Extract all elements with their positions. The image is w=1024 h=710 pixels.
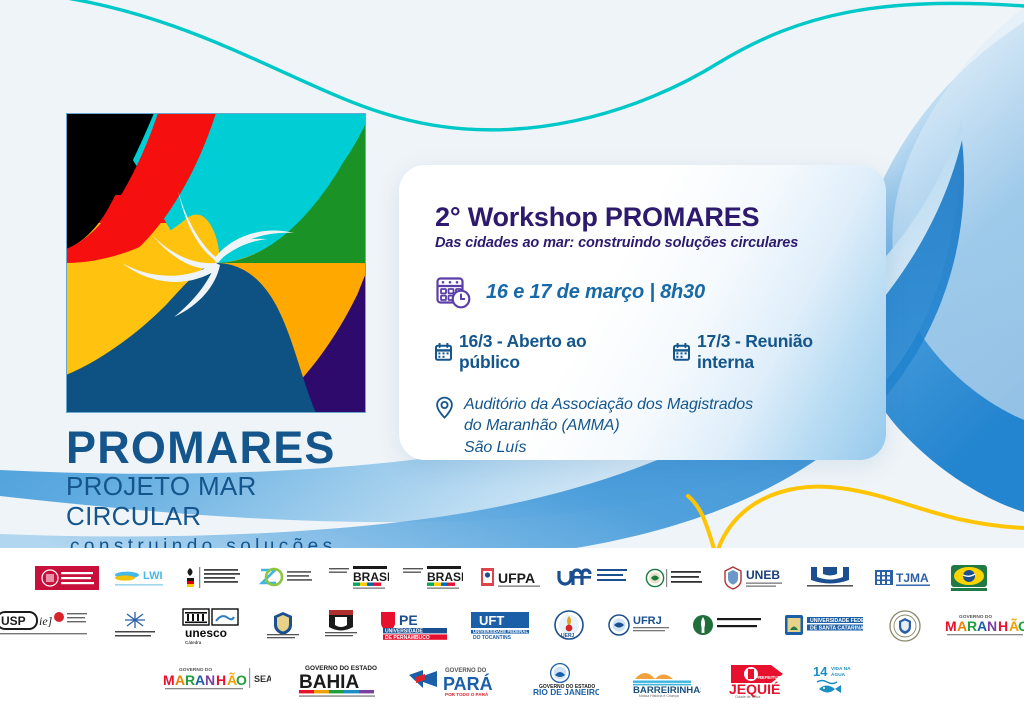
event-venue-row: Auditório da Associação dos Magistrados … [435,394,868,457]
partner-logo-governo-para: GOVERNO DO PARÁ POR TODO O PARÁ [405,656,497,704]
venue-line-3: São Luís [464,439,526,456]
svg-text:UNEB: UNEB [746,568,780,582]
svg-text:BRASIL: BRASIL [353,570,389,584]
partner-logo-upe: PE UNIVERSIDADE DE PERNAMBUCO [379,604,451,648]
partner-logo-governo-brasil-seal [949,558,989,598]
partner-logo-lwi: LWI [113,558,167,598]
partner-logo-ods-14: 14 VIDA NA ÁGUA [811,656,863,704]
partner-logo-ufrj: UFRJ [607,604,673,648]
svg-text:A: A [977,618,987,634]
bg-teal-curve [40,0,1024,130]
svg-text:ie]: ie] [39,614,53,628]
partner-logo-ufsc: UNIVERSIDADE FEDERAL DE SANTA CATARINA [783,604,867,648]
svg-text:TJMA: TJMA [896,571,929,585]
event-venue-text: Auditório da Associação dos Magistrados … [464,394,753,457]
event-datetime-row: 16 e 17 de março | 8h30 [435,273,868,311]
venue-line-2: do Maranhão (AMMA) [464,417,620,434]
svg-text:N: N [987,618,997,634]
partner-logo-ministerio-federal-brasil-1: BRASIL [329,558,389,598]
event-datetime-text: 16 e 17 de março | 8h30 [486,281,705,304]
svg-text:A: A [195,672,205,688]
svg-text:R: R [185,672,195,688]
venue-line-1: Auditório da Associação dos Magistrados [464,396,753,413]
partner-logo-governo-rio-de-janeiro: GOVERNO DO ESTADO RIO DE JANEIRO [521,656,599,704]
partner-logo-tjma: TJMA [873,558,935,598]
partner-logo-ufpa: UFPA [477,558,543,598]
partner-logo-uneb: UNEB [721,558,787,598]
poster-root: PROMARES PROJETO MAR CIRCULAR construind… [0,0,1024,710]
event-subtitle: Das cidades ao mar: construindo soluções… [435,235,868,251]
partner-logo-row-3: GOVERNO DO MA RA NH ÃO SEAP GOVERNO DO E… [0,656,1024,704]
partner-logo-row-2: USP ie] [0,604,1024,648]
partner-logo-uerj: UERJ [549,604,589,648]
svg-text:14: 14 [813,664,828,679]
calendar-icon [435,343,452,361]
svg-text:DE PERNAMBUCO: DE PERNAMBUCO [385,635,430,641]
partner-logo-uel [691,604,765,648]
partner-logo-instituto-oceanografico [107,604,163,648]
svg-text:DE SANTA CATARINA: DE SANTA CATARINA [810,626,864,632]
logo-title: PROMARES [66,425,376,470]
svg-text:BRASIL: BRASIL [427,570,463,584]
svg-text:O: O [1018,618,1024,634]
svg-text:BAHIA: BAHIA [299,672,359,693]
svg-text:M: M [163,672,175,688]
svg-text:Cidade de Todos: Cidade de Todos [735,695,761,699]
event-title: 2° Workshop PROMARES [435,203,868,231]
partner-logo-row-1: LWI [0,558,1024,598]
svg-text:PE: PE [399,612,418,628]
partner-logo-uff [557,558,631,598]
partner-logo-zug [257,558,315,598]
svg-text:unesco: unesco [185,626,227,640]
svg-text:R: R [967,618,977,634]
svg-text:A: A [175,672,185,688]
partner-logo-seal-generic [885,604,925,648]
svg-text:RIO DE JANEIRO: RIO DE JANEIRO [533,687,599,697]
session-label-0: 16/3 - Aberto ao público [459,331,645,373]
session-label-1: 17/3 - Reunião interna [697,331,868,373]
svg-text:LWI: LWI [143,570,163,582]
partner-logo-governo-maranhao: GOVERNO DO MA RA NH ÃO [943,604,1024,648]
svg-text:H: H [998,618,1008,634]
location-pin-icon [435,396,454,420]
svg-text:UFPA: UFPA [498,570,535,586]
svg-text:PARÁ: PARÁ [443,673,493,694]
svg-text:M: M [945,618,957,634]
session-item-1: 17/3 - Reunião interna [673,331,868,373]
svg-text:VIDA NA: VIDA NA [831,666,851,672]
partner-logo-uema [645,558,707,598]
session-item-0: 16/3 - Aberto ao público [435,331,645,373]
bg-yellow-curve [716,487,1024,556]
partner-logo-barreirinhas: BARREIRINHAS Nossa História é Criança [623,656,701,704]
logo-subtitle: PROJETO MAR CIRCULAR [66,472,376,532]
svg-text:ÁGUA: ÁGUA [831,671,846,678]
partner-logo-prefeitura-jequie: PREFEITURA JEQUIÉ Cidade de Todos [725,656,787,704]
partner-logo-unesco: unesco Cátedra [181,604,245,648]
svg-text:GOVERNO DO ESTADO: GOVERNO DO ESTADO [305,665,377,672]
svg-text:UFRJ: UFRJ [633,615,662,627]
svg-text:DO TOCANTINS: DO TOCANTINS [473,635,512,641]
partner-logo-uft: UFT UNIVERSIDADE FEDERAL DO TOCANTINS [469,604,531,648]
promares-pinwheel-logo [66,113,366,413]
svg-text:UNIVERSIDADE FEDERAL: UNIVERSIDADE FEDERAL [810,618,867,624]
svg-text:N: N [205,672,215,688]
svg-text:UFT: UFT [479,613,504,628]
partner-logo-ufc [263,604,303,648]
svg-text:PREFEITURA: PREFEITURA [755,675,785,680]
partner-logo-unb [801,558,859,598]
event-sessions-row: 16/3 - Aberto ao público [435,331,868,373]
svg-text:Nossa História é Criança: Nossa História é Criança [639,694,679,698]
svg-text:Cátedra: Cátedra [185,640,202,645]
event-info-card: 2° Workshop PROMARES Das cidades ao mar:… [399,165,886,460]
promares-logo-block: PROMARES PROJETO MAR CIRCULAR construind… [66,113,376,558]
svg-text:UERJ: UERJ [561,633,575,639]
svg-text:A: A [957,618,967,634]
svg-text:USP: USP [1,614,26,628]
partner-logo-governo-bahia: GOVERNO DO ESTADO BAHIA [295,656,381,704]
partner-logo-ministerio-federal-brasil-2: BRASIL [403,558,463,598]
calendar-icon [673,343,690,361]
svg-text:POR TODO O PARÁ: POR TODO O PARÁ [445,691,489,697]
partner-logo-ufpe [321,604,361,648]
svg-text:UNIVERSIDADE FEDERAL: UNIVERSIDADE FEDERAL [473,629,528,634]
svg-text:UNIVERSIDADE: UNIVERSIDADE [385,628,423,634]
partner-logo-usp-iee: USP ie] [0,604,89,648]
svg-text:SEAP: SEAP [254,674,271,684]
partner-logo-governo-maranhao-seap: GOVERNO DO MA RA NH ÃO SEAP [161,656,271,704]
partner-logo-bmuv-germany [181,558,243,598]
partner-logo-tu-braunschweig [35,558,99,598]
svg-text:O: O [236,672,247,688]
svg-text:H: H [216,672,226,688]
promares-wordmark: PROMARES PROJETO MAR CIRCULAR construind… [66,425,376,558]
calendar-clock-icon [435,273,473,311]
